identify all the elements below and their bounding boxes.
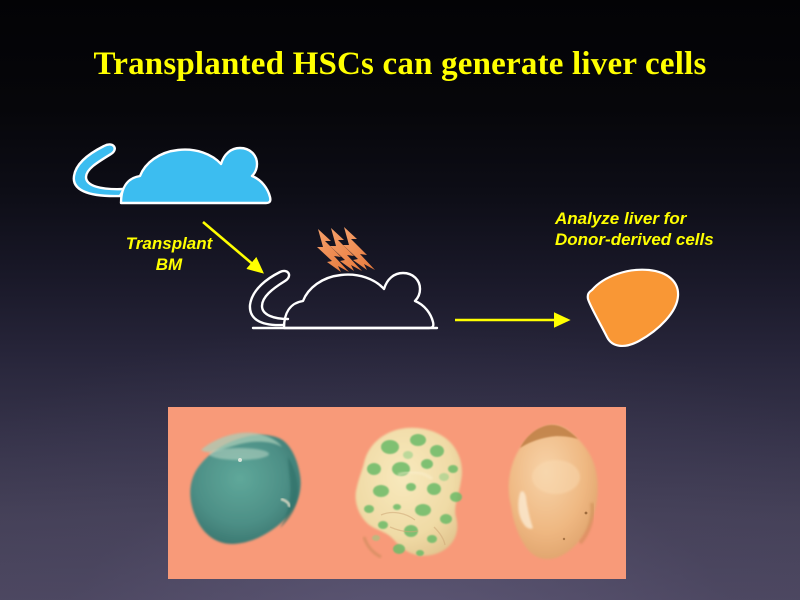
label-transplant-bm: Transplant BM xyxy=(104,233,234,275)
page-title: Transplanted HSCs can generate liver cel… xyxy=(0,46,800,83)
liver-specimen-blue-stained xyxy=(190,433,300,544)
label-analyze-liver: Analyze liver for Donor-derived cells xyxy=(555,208,714,250)
liver-photo-panel xyxy=(168,407,626,579)
irradiation-bolts xyxy=(317,227,375,272)
recipient-mouse xyxy=(250,271,437,328)
specimen-photographs xyxy=(168,407,626,579)
liver-specimen-control xyxy=(509,425,598,559)
presentation-slide: Transplanted HSCs can generate liver cel… xyxy=(0,0,800,600)
donor-mouse xyxy=(74,144,271,203)
liver-specimen-nodular xyxy=(356,428,462,557)
liver-icon xyxy=(588,270,678,346)
